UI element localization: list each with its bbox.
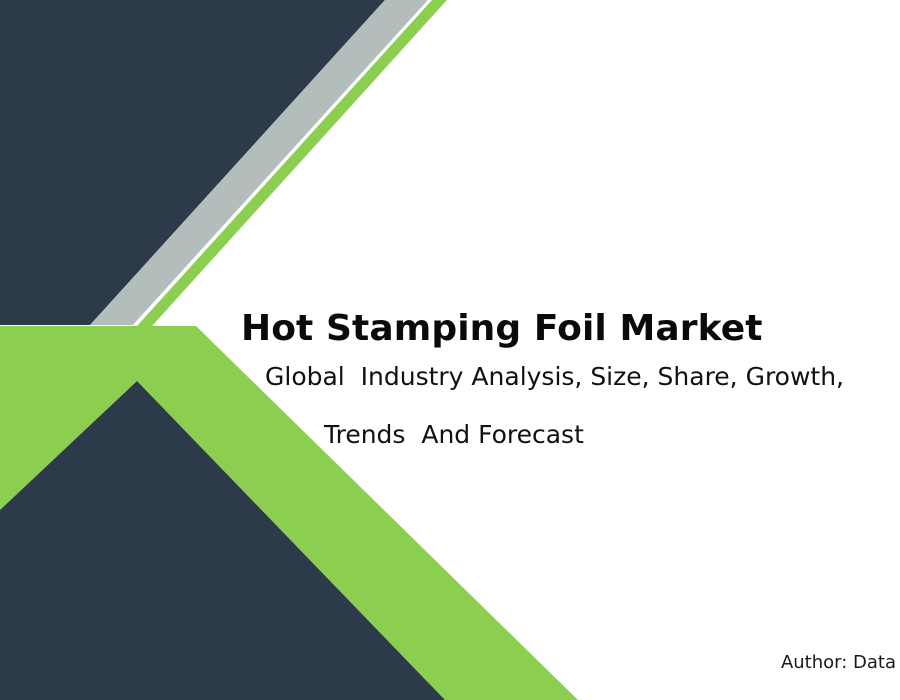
subtitle-line-1: Global Industry Analysis, Size, Share, G… — [0, 364, 900, 389]
author-credit: Author: Data — [0, 652, 900, 673]
subtitle-line-2: Trends And Forecast — [0, 422, 900, 447]
slide-content: Hot Stamping Foil Market Global Industry… — [0, 0, 900, 700]
title-slide: Hot Stamping Foil Market Global Industry… — [0, 0, 900, 700]
page-title: Hot Stamping Foil Market — [241, 310, 763, 348]
slide-subtitle: Global Industry Analysis, Size, Share, G… — [0, 364, 900, 447]
